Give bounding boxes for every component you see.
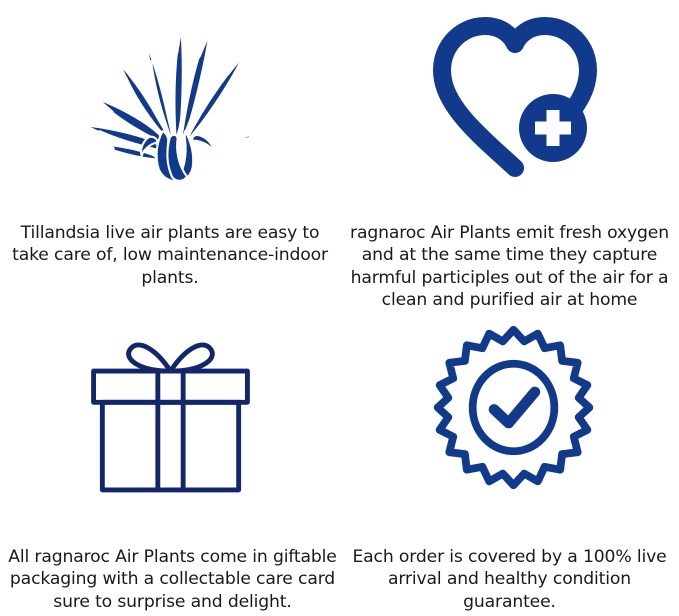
verified-badge-icon: [426, 320, 601, 495]
feature-caption: Tillandsia live air plants are easy to t…: [0, 222, 340, 289]
rosette-outline: [438, 330, 590, 486]
gift-box-icon: [78, 320, 263, 505]
feature-card-air-plant-care: Tillandsia live air plants are easy to t…: [0, 0, 340, 310]
bow-right-loop: [170, 345, 212, 371]
feature-caption: Each order is covered by a 100% live arr…: [340, 546, 679, 613]
gift-body: [102, 402, 238, 490]
feature-caption: ragnaroc Air Plants emit fresh oxygen an…: [340, 222, 679, 311]
feature-caption: All ragnaroc Air Plants come in giftable…: [0, 546, 345, 613]
gift-lid: [93, 371, 247, 402]
check-glyph: [494, 392, 535, 423]
air-plant-icon: [75, 8, 265, 188]
heart-plus-icon: [425, 8, 605, 188]
badge-circle: [473, 364, 555, 452]
feature-grid: Tillandsia live air plants are easy to t…: [0, 0, 679, 616]
bow-left-loop: [128, 345, 170, 371]
feature-card-live-arrival-guarantee: Each order is covered by a 100% live arr…: [340, 310, 679, 616]
feature-card-giftable-packaging: All ragnaroc Air Plants come in giftable…: [0, 310, 340, 616]
feature-card-fresh-oxygen: ragnaroc Air Plants emit fresh oxygen an…: [340, 0, 679, 310]
